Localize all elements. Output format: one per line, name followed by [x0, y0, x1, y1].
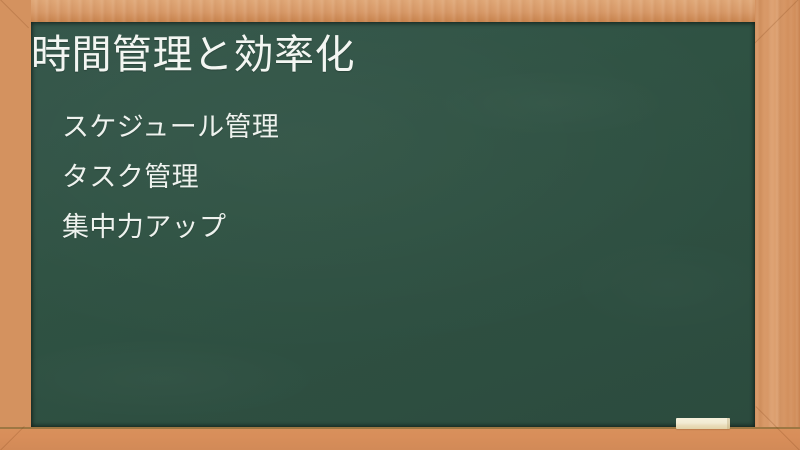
list-item: スケジュール管理: [62, 114, 702, 164]
list-item: 集中力アップ: [62, 214, 702, 264]
slide-bullet-list: スケジュール管理 タスク管理 集中力アップ: [62, 114, 702, 264]
board-content: 時間管理と効率化 スケジュール管理 タスク管理 集中力アップ: [31, 22, 755, 427]
list-item: タスク管理: [62, 164, 702, 214]
frame-top-rail: [0, 0, 800, 22]
slide-title: 時間管理と効率化: [31, 30, 731, 80]
frame-bottom-ledge: [0, 427, 800, 450]
chalkboard: 時間管理と効率化 スケジュール管理 タスク管理 集中力アップ: [31, 22, 755, 427]
chalkboard-slide: 時間管理と効率化 スケジュール管理 タスク管理 集中力アップ: [0, 0, 800, 450]
frame-left-rail: [0, 0, 31, 450]
chalk-stick: [676, 418, 730, 429]
frame-right-rail: [755, 0, 800, 450]
